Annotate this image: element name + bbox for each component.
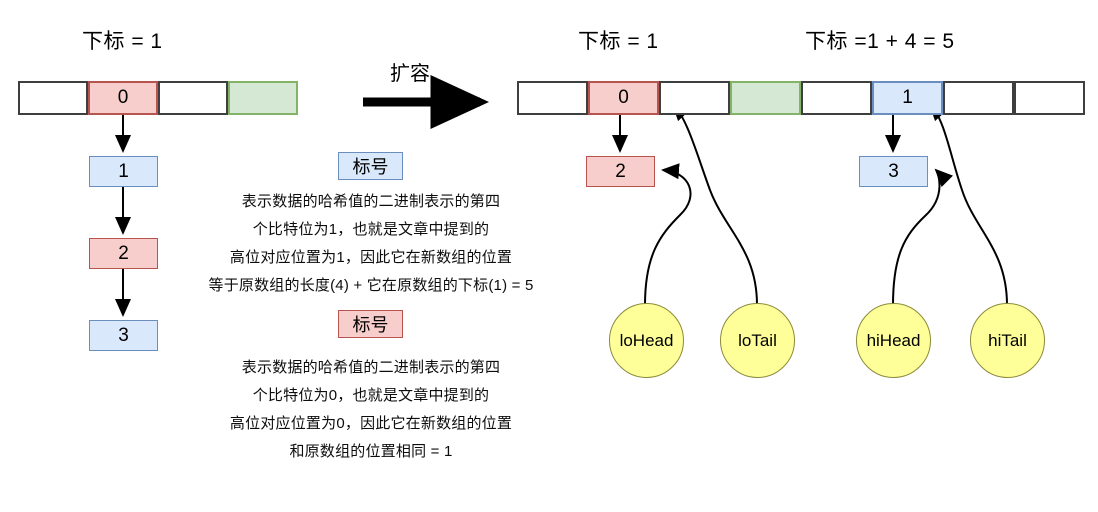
legend-red-line-2: 个比特位为0，也就是文章中提到的 (181, 384, 561, 405)
legend-badge-red: 标号 (338, 310, 403, 338)
legend-red-line-3: 高位对应位置为0，因此它在新数组的位置 (181, 412, 561, 433)
old-array-cell-0[interactable] (18, 81, 88, 115)
new-array-cell-2[interactable] (659, 81, 730, 115)
new-array-lo-index-label: 下标 = 1 (578, 25, 659, 55)
old-chain-node-2[interactable]: 2 (89, 238, 158, 269)
link-hihead-to-node3 (893, 170, 940, 305)
pointer-hihead[interactable]: hiHead (856, 303, 931, 378)
old-chain-node-3[interactable]: 3 (89, 320, 158, 351)
old-chain-node-1[interactable]: 1 (89, 156, 158, 187)
pointer-lohead[interactable]: loHead (609, 303, 684, 378)
pointer-lotail[interactable]: loTail (720, 303, 795, 378)
new-lo-chain-node-2[interactable]: 2 (586, 156, 655, 187)
old-array-cell-1[interactable]: 0 (88, 81, 158, 115)
new-hi-chain-node-3[interactable]: 3 (859, 156, 928, 187)
legend-blue-line-4: 等于原数组的长度(4) + 它在原数组的下标(1) = 5 (181, 274, 561, 295)
new-array-cell-1[interactable]: 0 (588, 81, 659, 115)
legend-red-line-1: 表示数据的哈希值的二进制表示的第四 (181, 356, 561, 377)
old-array-cell-3[interactable] (228, 81, 298, 115)
expand-label: 扩容 (390, 57, 430, 86)
pointer-hitail[interactable]: hiTail (970, 303, 1045, 378)
legend-blue-line-1: 表示数据的哈希值的二进制表示的第四 (181, 190, 561, 211)
new-array-cell-0[interactable] (517, 81, 588, 115)
old-array-index-label: 下标 = 1 (82, 25, 163, 55)
legend-red-line-4: 和原数组的位置相同 = 1 (181, 440, 561, 461)
new-array-cell-6[interactable] (943, 81, 1014, 115)
link-lohead-to-node2 (645, 170, 691, 305)
diagram-canvas: 下标 = 1 0 1 2 3 扩容 标号 表示数据的哈希值的二进制表示的第四 个… (0, 0, 1098, 512)
new-array-cell-4[interactable] (801, 81, 872, 115)
old-array-cell-2[interactable] (158, 81, 228, 115)
new-array-cell-7[interactable] (1014, 81, 1085, 115)
link-hitail-to-newarray (930, 104, 1007, 305)
new-array-hi-index-label: 下标 =1 + 4 = 5 (805, 25, 955, 55)
legend-blue-line-2: 个比特位为1，也就是文章中提到的 (181, 218, 561, 239)
legend-badge-blue: 标号 (338, 152, 403, 180)
legend-blue-line-3: 高位对应位置为1，因此它在新数组的位置 (181, 246, 561, 267)
new-array-cell-5[interactable]: 1 (872, 81, 943, 115)
link-lotail-to-newarray (673, 104, 757, 305)
new-array-cell-3[interactable] (730, 81, 801, 115)
